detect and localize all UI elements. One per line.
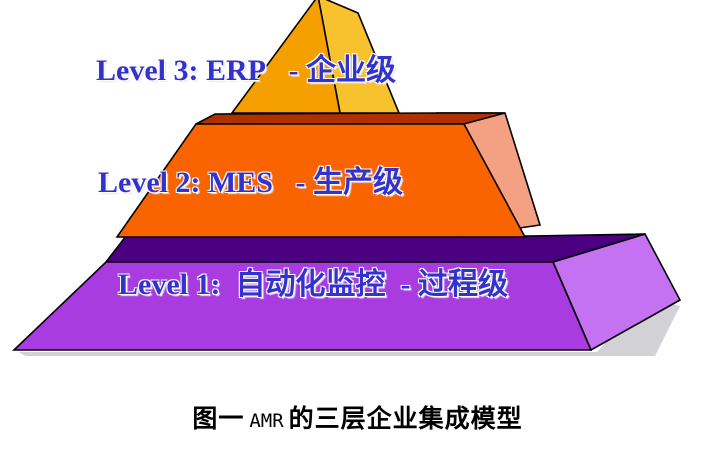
pyramid-diagram <box>0 0 715 392</box>
level1-top-face <box>106 234 645 262</box>
caption-acronym: AMR <box>244 410 288 432</box>
level2-front-face <box>117 124 525 237</box>
level2-top-face <box>196 113 505 124</box>
level1-front-face <box>14 262 591 350</box>
caption-prefix: 图一 <box>192 404 244 433</box>
figure-caption: 图一AMR的三层企业集成模型 <box>0 404 715 436</box>
caption-suffix: 的三层企业集成模型 <box>289 404 523 433</box>
figure-container: Level 3: ERP - 企业级 Level 2: MES - 生产级 Le… <box>0 0 715 468</box>
